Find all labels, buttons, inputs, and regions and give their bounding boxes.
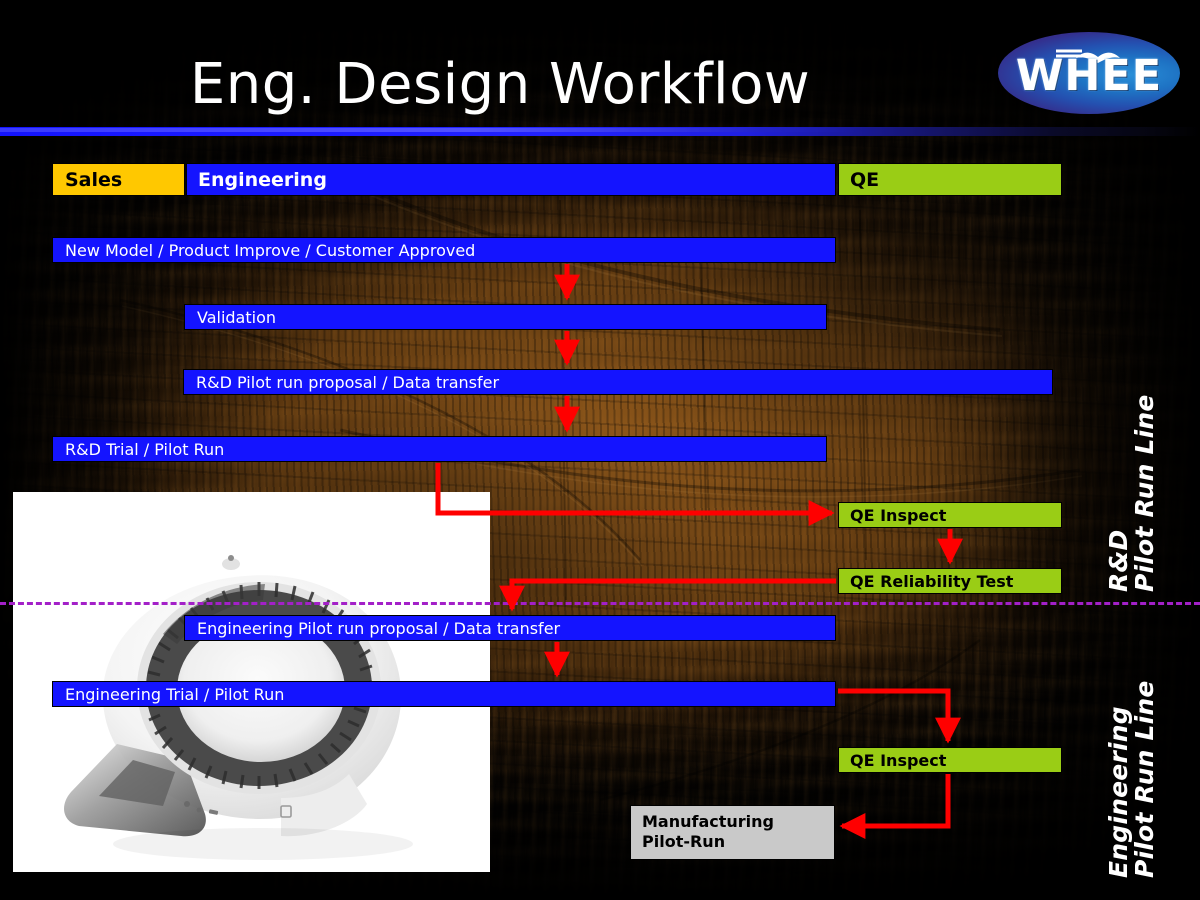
lane-header-sales: Sales <box>52 163 185 196</box>
side-label-eng-line1: Engineering <box>1106 680 1132 878</box>
lane-header-engineering: Engineering <box>186 163 836 196</box>
slide-canvas: Eng. Design Workflow WHEE Sales Engineer… <box>0 0 1200 900</box>
lane-header-qe: QE <box>838 163 1062 196</box>
manufacturing-line-2: Pilot-Run <box>642 832 834 852</box>
qe-box-inspect-engineering: QE Inspect <box>838 747 1062 773</box>
side-label-rd-line1: R&D <box>1106 394 1132 592</box>
company-logo: WHEE <box>998 32 1180 114</box>
qe-box-reliability-test: QE Reliability Test <box>838 568 1062 594</box>
logo-text: WHEE <box>998 32 1180 114</box>
side-label-rd-pilot-run-line: R&D Pilot Run Line <box>1106 394 1157 592</box>
manufacturing-line-1: Manufacturing <box>642 812 834 832</box>
page-title: Eng. Design Workflow <box>0 52 1000 117</box>
process-box-new-model: New Model / Product Improve / Customer A… <box>52 237 836 263</box>
title-divider-highlight <box>0 128 860 132</box>
process-box-rd-pilot-proposal: R&D Pilot run proposal / Data transfer <box>183 369 1053 395</box>
side-label-engineering-pilot-run-line: Engineering Pilot Run Line <box>1106 680 1157 878</box>
qe-box-inspect-rd: QE Inspect <box>838 502 1062 528</box>
side-label-eng-line2: Pilot Run Line <box>1132 680 1158 878</box>
process-box-rd-trial: R&D Trial / Pilot Run <box>52 436 827 462</box>
process-box-eng-pilot-proposal: Engineering Pilot run proposal / Data tr… <box>184 615 836 641</box>
process-box-eng-trial: Engineering Trial / Pilot Run <box>52 681 836 707</box>
pilot-run-line-divider <box>0 602 1200 605</box>
process-box-validation: Validation <box>184 304 827 330</box>
manufacturing-pilot-run-box: Manufacturing Pilot-Run <box>630 805 835 860</box>
side-label-rd-line2: Pilot Run Line <box>1132 394 1158 592</box>
